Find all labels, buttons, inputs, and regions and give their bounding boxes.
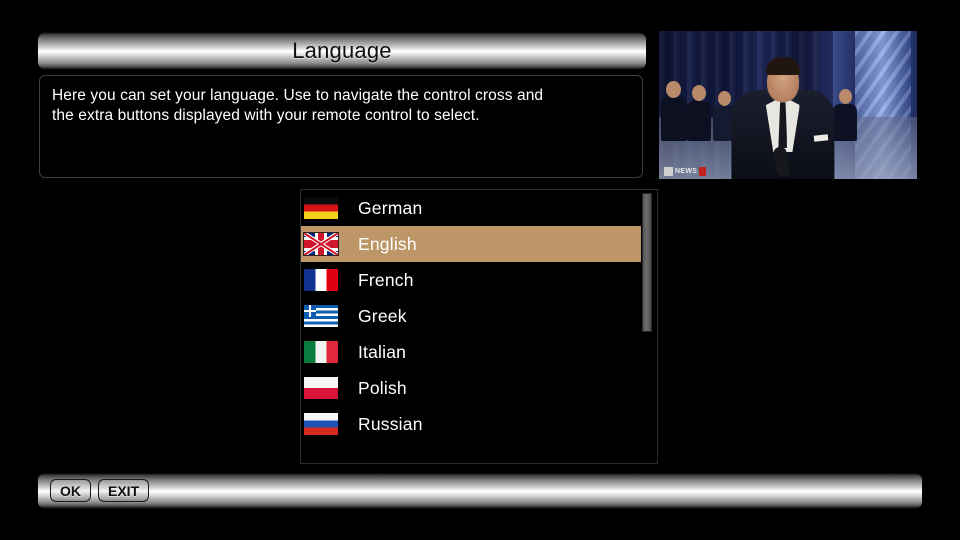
flag-russia-icon: [304, 413, 338, 435]
preview-scene: NEWS: [659, 31, 917, 179]
list-item[interactable]: German: [301, 190, 641, 226]
list-item-label: Polish: [358, 378, 407, 399]
list-item-label: French: [358, 270, 414, 291]
list-item[interactable]: French: [301, 262, 641, 298]
language-list-panel[interactable]: German English French Greek: [300, 189, 658, 464]
list-item-label: Greek: [358, 306, 407, 327]
live-tv-preview[interactable]: NEWS: [659, 31, 917, 179]
list-item-label: German: [358, 198, 422, 219]
flag-uk-icon: [304, 233, 338, 255]
list-item[interactable]: English: [301, 226, 641, 262]
flag-germany-icon: [304, 197, 338, 219]
list-item-label: Italian: [358, 342, 406, 363]
button-row: OK EXIT: [50, 479, 149, 502]
scrollbar-thumb[interactable]: [642, 193, 652, 332]
page-title: Language: [292, 38, 391, 64]
list-item-label: Russian: [358, 414, 423, 435]
flag-france-icon: [304, 269, 338, 291]
description-panel: Here you can set your language. Use to n…: [39, 75, 643, 178]
exit-button[interactable]: EXIT: [98, 479, 149, 502]
tv-settings-screen: Language Here you can set your language.…: [0, 0, 960, 540]
anchor-hair: [766, 57, 800, 75]
pocket-square: [814, 134, 829, 141]
channel-logo-label: NEWS: [675, 168, 697, 175]
flag-poland-icon: [304, 377, 338, 399]
bottom-bar: OK EXIT: [38, 474, 922, 508]
list-scrollbar[interactable]: [642, 193, 652, 461]
list-item[interactable]: Italian: [301, 334, 641, 370]
list-item-label: English: [358, 234, 417, 255]
ok-button[interactable]: OK: [50, 479, 91, 502]
title-bar: Language: [38, 33, 646, 69]
flag-italy-icon: [304, 341, 338, 363]
flag-greece-icon: [304, 305, 338, 327]
channel-logo: NEWS: [664, 167, 706, 176]
description-text: Here you can set your language. Use to n…: [52, 86, 630, 127]
list-item[interactable]: Russian: [301, 406, 641, 442]
list-item[interactable]: Polish: [301, 370, 641, 406]
language-list[interactable]: German English French Greek: [301, 190, 641, 442]
list-item[interactable]: Greek: [301, 298, 641, 334]
